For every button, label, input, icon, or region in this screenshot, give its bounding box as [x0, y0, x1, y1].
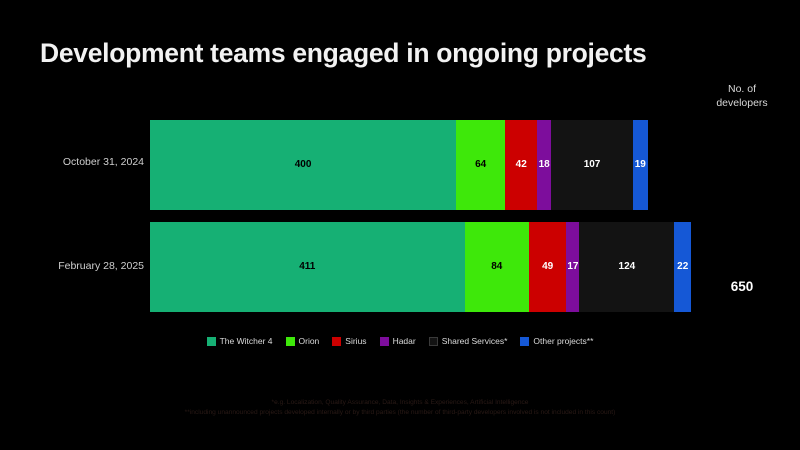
- footnote-2: **including unannounced projects develop…: [0, 408, 800, 418]
- bar-segment-value: 107: [584, 160, 601, 170]
- bar-segment-value: 411: [299, 262, 315, 272]
- bar-segment-value: 42: [516, 160, 527, 170]
- legend-swatch-icon: [380, 337, 389, 346]
- legend-label: Orion: [299, 336, 320, 346]
- legend-item[interactable]: Shared Services*: [429, 336, 508, 346]
- bar-segment: 400: [150, 120, 456, 210]
- chart-legend: The Witcher 4OrionSiriusHadarShared Serv…: [0, 336, 800, 346]
- bar-segment: 19: [633, 120, 648, 210]
- bar-segment: 124: [579, 222, 674, 312]
- legend-item[interactable]: Hadar: [380, 336, 416, 346]
- bar-segment: 49: [529, 222, 567, 312]
- legend-label: Hadar: [393, 336, 416, 346]
- legend-swatch-icon: [520, 337, 529, 346]
- legend-swatch-icon: [286, 337, 295, 346]
- slide-root: Development teams engaged in ongoing pro…: [0, 0, 800, 450]
- bar-segment: 107: [551, 120, 633, 210]
- stacked-bar: 40064421810719: [150, 120, 648, 210]
- legend-item[interactable]: Orion: [286, 336, 320, 346]
- bar-segment-value: 64: [475, 160, 486, 170]
- row-label: October 31, 2024: [30, 156, 144, 168]
- legend-label: Sirius: [345, 336, 366, 346]
- legend-item[interactable]: The Witcher 4: [207, 336, 273, 346]
- footnotes: *e.g. Localization, Quality Assurance, D…: [0, 398, 800, 418]
- bar-segment: 18: [537, 120, 551, 210]
- legend-label: Other projects**: [533, 336, 593, 346]
- row-label: February 28, 2025: [30, 260, 144, 272]
- stacked-bar-chart: October 31, 2024 40064421810719 650 Febr…: [0, 0, 800, 450]
- legend-label: The Witcher 4: [220, 336, 273, 346]
- bar-segment: 411: [150, 222, 465, 312]
- footnote-1: *e.g. Localization, Quality Assurance, D…: [0, 398, 800, 408]
- legend-item[interactable]: Sirius: [332, 336, 366, 346]
- bar-segment: 42: [505, 120, 537, 210]
- legend-swatch-icon: [429, 337, 438, 346]
- bar-segment: 84: [465, 222, 529, 312]
- bar-segment: 64: [456, 120, 505, 210]
- bar-segment-value: 49: [542, 262, 553, 272]
- bar-segment-value: 19: [635, 160, 646, 170]
- bar-segment-value: 17: [567, 262, 578, 272]
- legend-swatch-icon: [207, 337, 216, 346]
- legend-label: Shared Services*: [442, 336, 508, 346]
- legend-item[interactable]: Other projects**: [520, 336, 593, 346]
- bar-segment-value: 124: [619, 262, 636, 272]
- stacked-bar: 41184491712422: [150, 222, 691, 312]
- bar-segment-value: 84: [491, 262, 502, 272]
- bar-segment-value: 400: [295, 160, 312, 170]
- legend-swatch-icon: [332, 337, 341, 346]
- bar-segment-value: 18: [539, 160, 550, 170]
- bar-segment-value: 22: [677, 262, 688, 272]
- row-total: 650: [694, 279, 790, 294]
- bar-segment: 22: [674, 222, 691, 312]
- bar-segment: 17: [566, 222, 579, 312]
